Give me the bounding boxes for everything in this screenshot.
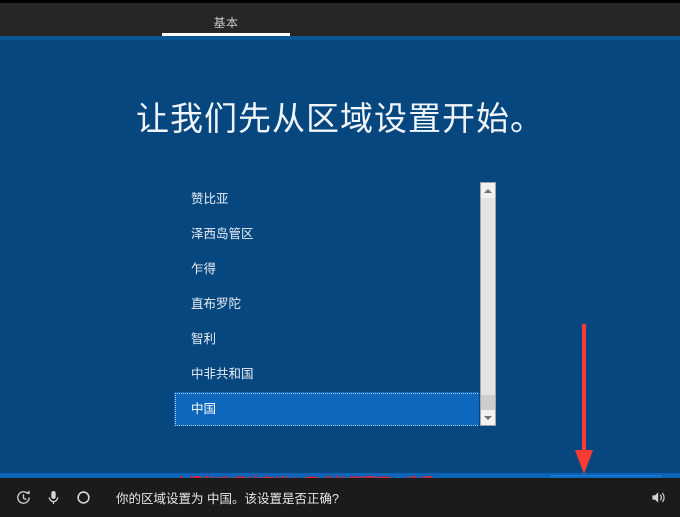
- page-title: 让我们先从区域设置开始。: [0, 92, 680, 140]
- chevron-up-icon: [484, 189, 492, 193]
- region-listbox[interactable]: 赞比亚 泽西岛管区 乍得 直布罗陀 智利 中非共和国 中国: [174, 182, 501, 426]
- list-item-label: 乍得: [191, 262, 216, 276]
- list-item[interactable]: 赞比亚: [174, 182, 479, 217]
- window-header: 基本: [0, 0, 680, 36]
- speaker-icon[interactable]: [636, 478, 680, 517]
- taskbar-message: 你的区域设置为 中国。该设置是否正确?: [116, 488, 636, 507]
- scroll-down-button[interactable]: [481, 410, 495, 425]
- scroll-up-button[interactable]: [481, 183, 495, 198]
- list-item-label: 赞比亚: [191, 192, 229, 206]
- list-item[interactable]: 中非共和国: [174, 357, 479, 392]
- list-item[interactable]: 泽西岛管区: [174, 217, 479, 252]
- list-item-label: 直布罗陀: [191, 297, 241, 311]
- red-down-arrow-icon: [572, 324, 596, 476]
- list-item-label: 中国: [191, 402, 216, 416]
- ease-of-access-icon[interactable]: [8, 478, 38, 517]
- region-list-scrollbar[interactable]: [480, 182, 496, 426]
- list-item[interactable]: 直布罗陀: [174, 287, 479, 322]
- list-item-label: 中非共和国: [191, 367, 254, 381]
- oobe-screen: 基本 让我们先从区域设置开始。 赞比亚 泽西岛管区 乍得 直布罗陀: [0, 0, 680, 517]
- scrollbar-thumb[interactable]: [481, 198, 495, 395]
- list-item[interactable]: 乍得: [174, 252, 479, 287]
- cortana-circle-icon[interactable]: [68, 478, 98, 517]
- taskbar: 你的区域设置为 中国。该设置是否正确?: [0, 478, 680, 517]
- region-list[interactable]: 赞比亚 泽西岛管区 乍得 直布罗陀 智利 中非共和国 中国: [174, 182, 479, 426]
- list-item-selected[interactable]: 中国: [174, 392, 479, 426]
- stage-top-accent-line: [0, 36, 680, 40]
- list-item-label: 泽西岛管区: [191, 227, 254, 241]
- microphone-icon[interactable]: [38, 478, 68, 517]
- oobe-stage: 让我们先从区域设置开始。 赞比亚 泽西岛管区 乍得 直布罗陀 智利: [0, 36, 680, 478]
- list-item-label: 智利: [191, 332, 216, 346]
- tab-basic-label: 基本: [213, 14, 238, 31]
- list-item[interactable]: 智利: [174, 322, 479, 357]
- chevron-down-icon: [484, 416, 492, 420]
